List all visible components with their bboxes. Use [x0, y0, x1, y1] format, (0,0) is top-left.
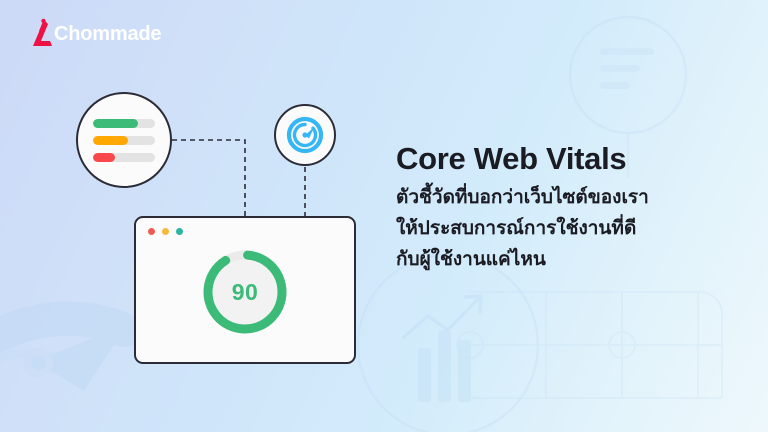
performance-score-gauge: 90: [136, 246, 354, 338]
poor-metric-bar: [93, 153, 155, 162]
poor-metric-bar-fill: [93, 153, 115, 162]
page-title: Core Web Vitals: [396, 142, 736, 175]
browser-traffic-lights: [148, 228, 183, 235]
maximize-dot[interactable]: [176, 228, 183, 235]
subtitle-line-1: ตัวชี้วัดที่บอกว่าเว็บไซต์ของเรา: [396, 183, 736, 214]
browser-window-icon[interactable]: 90: [134, 216, 356, 364]
metrics-bars-badge[interactable]: [76, 92, 172, 188]
needs-improvement-metric-bar-fill: [93, 136, 128, 145]
good-metric-bar: [93, 119, 155, 128]
hero-text-block: Core Web Vitals ตัวชี้วัดที่บอกว่าเว็บไซ…: [396, 142, 736, 276]
close-dot[interactable]: [148, 228, 155, 235]
minimize-dot[interactable]: [162, 228, 169, 235]
hero-banner: Chommade: [0, 0, 768, 432]
gauge-score-value: 90: [199, 246, 291, 338]
subtitle-line-2: ให้ประสบการณ์การใช้งานที่ดี: [396, 214, 736, 245]
subtitle-line-3: กับผู้ใช้งานแค่ไหน: [396, 245, 736, 276]
good-metric-bar-fill: [93, 119, 138, 128]
speed-badge[interactable]: [274, 104, 336, 166]
progress-bars-icon: [93, 119, 155, 162]
needs-improvement-metric-bar: [93, 136, 155, 145]
speedometer-icon: [285, 115, 325, 155]
